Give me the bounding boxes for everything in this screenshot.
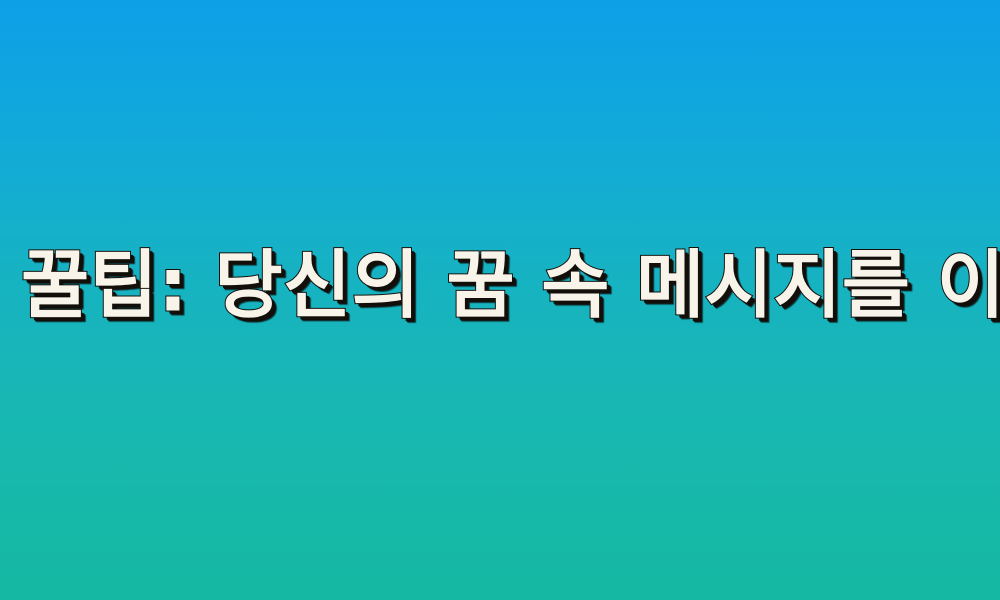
banner-headline: 해몽 꿀팁: 당신의 꿈 속 메시지를 이해하 [0,242,1000,329]
headline-container: 해몽 꿀팁: 당신의 꿈 속 메시지를 이해하 [0,242,1000,329]
banner-canvas: 해몽 꿀팁: 당신의 꿈 속 메시지를 이해하 [0,0,1000,600]
